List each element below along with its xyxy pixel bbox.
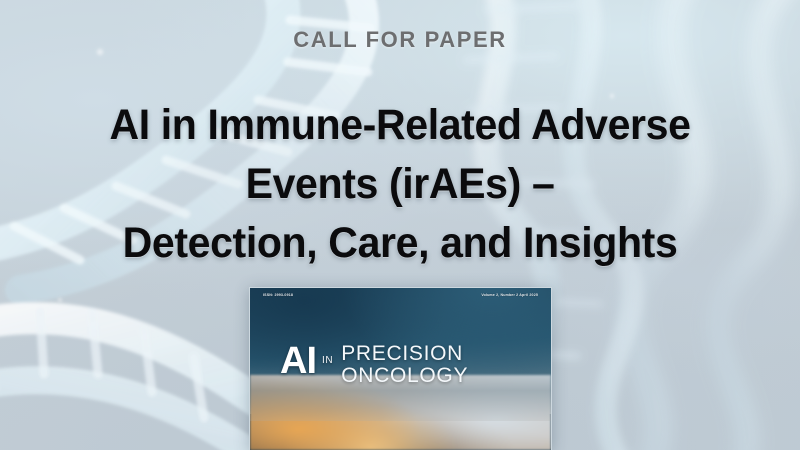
cover-volume-text: Volume 2, Number 2 April 2025	[481, 293, 538, 297]
logo-oncology-text: ONCOLOGY	[341, 365, 468, 387]
logo-in-text: IN	[322, 355, 333, 366]
headline-line-2: Events (irAEs) –	[45, 155, 756, 214]
journal-logo: AI IN PRECISION ONCOLOGY	[280, 344, 468, 387]
logo-ai-text: AI	[280, 344, 316, 379]
headline-line-3: Detection, Care, and Insights	[45, 214, 756, 273]
journal-cover-image[interactable]: ISSN: 2993-0918 Volume 2, Number 2 April…	[249, 287, 552, 450]
cover-issn-text: ISSN: 2993-0918	[263, 293, 293, 297]
logo-precision-text: PRECISION	[341, 343, 468, 365]
headline-line-1: AI in Immune-Related Adverse	[45, 96, 756, 155]
logo-subject-lines: PRECISION ONCOLOGY	[341, 343, 468, 387]
page-title: AI in Immune-Related Adverse Events (irA…	[45, 96, 756, 273]
eyebrow-call-for-paper: CALL FOR PAPER	[0, 27, 800, 53]
call-for-paper-poster: CALL FOR PAPER AI in Immune-Related Adve…	[0, 0, 800, 450]
